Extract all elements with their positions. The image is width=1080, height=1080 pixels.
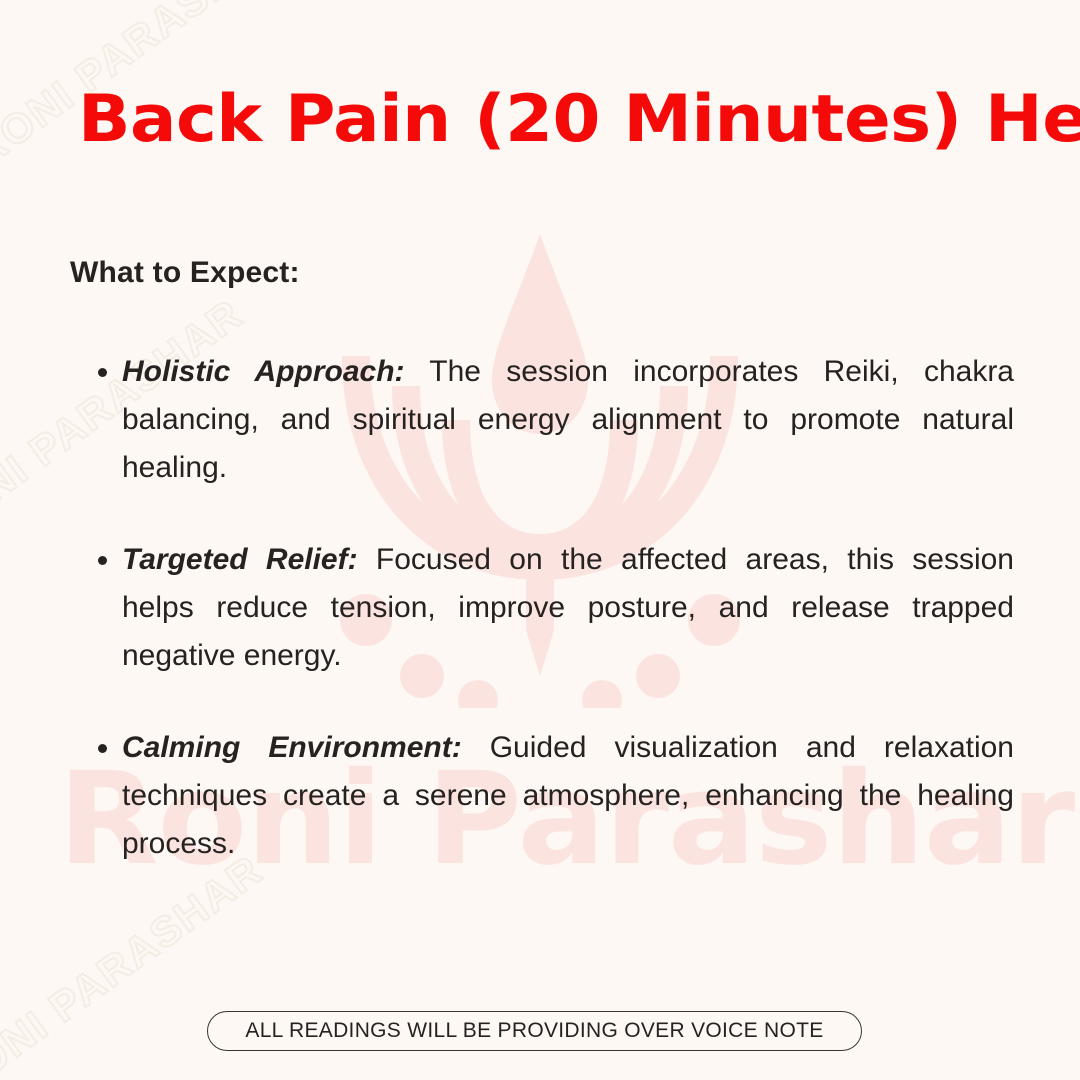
voice-note-badge-label: ALL READINGS WILL BE PROVIDING OVER VOIC…: [245, 1019, 823, 1043]
list-item-lead: Targeted Relief:: [122, 543, 358, 576]
expectations-list: Holistic Approach: The session incorpora…: [94, 348, 1014, 868]
voice-note-badge: ALL READINGS WILL BE PROVIDING OVER VOIC…: [207, 1011, 862, 1051]
list-item: Holistic Approach: The session incorpora…: [94, 348, 1014, 492]
list-item-lead: Calming Environment:: [122, 731, 462, 764]
bullet-dot-icon: [98, 556, 107, 565]
bullet-dot-icon: [98, 744, 107, 753]
list-item: Targeted Relief: Focused on the affected…: [94, 536, 1014, 680]
section-heading: What to Expect:: [70, 256, 300, 290]
page-title: Back Pain (20 Minutes) Healing: [78, 86, 1080, 154]
poster-canvas: Roni Parashar RONI PARASHAR RONI PARASHA…: [0, 0, 1080, 1080]
bullet-dot-icon: [98, 368, 107, 377]
list-item: Calming Environment: Guided visualizatio…: [94, 724, 1014, 868]
list-item-lead: Holistic Approach:: [122, 355, 405, 388]
